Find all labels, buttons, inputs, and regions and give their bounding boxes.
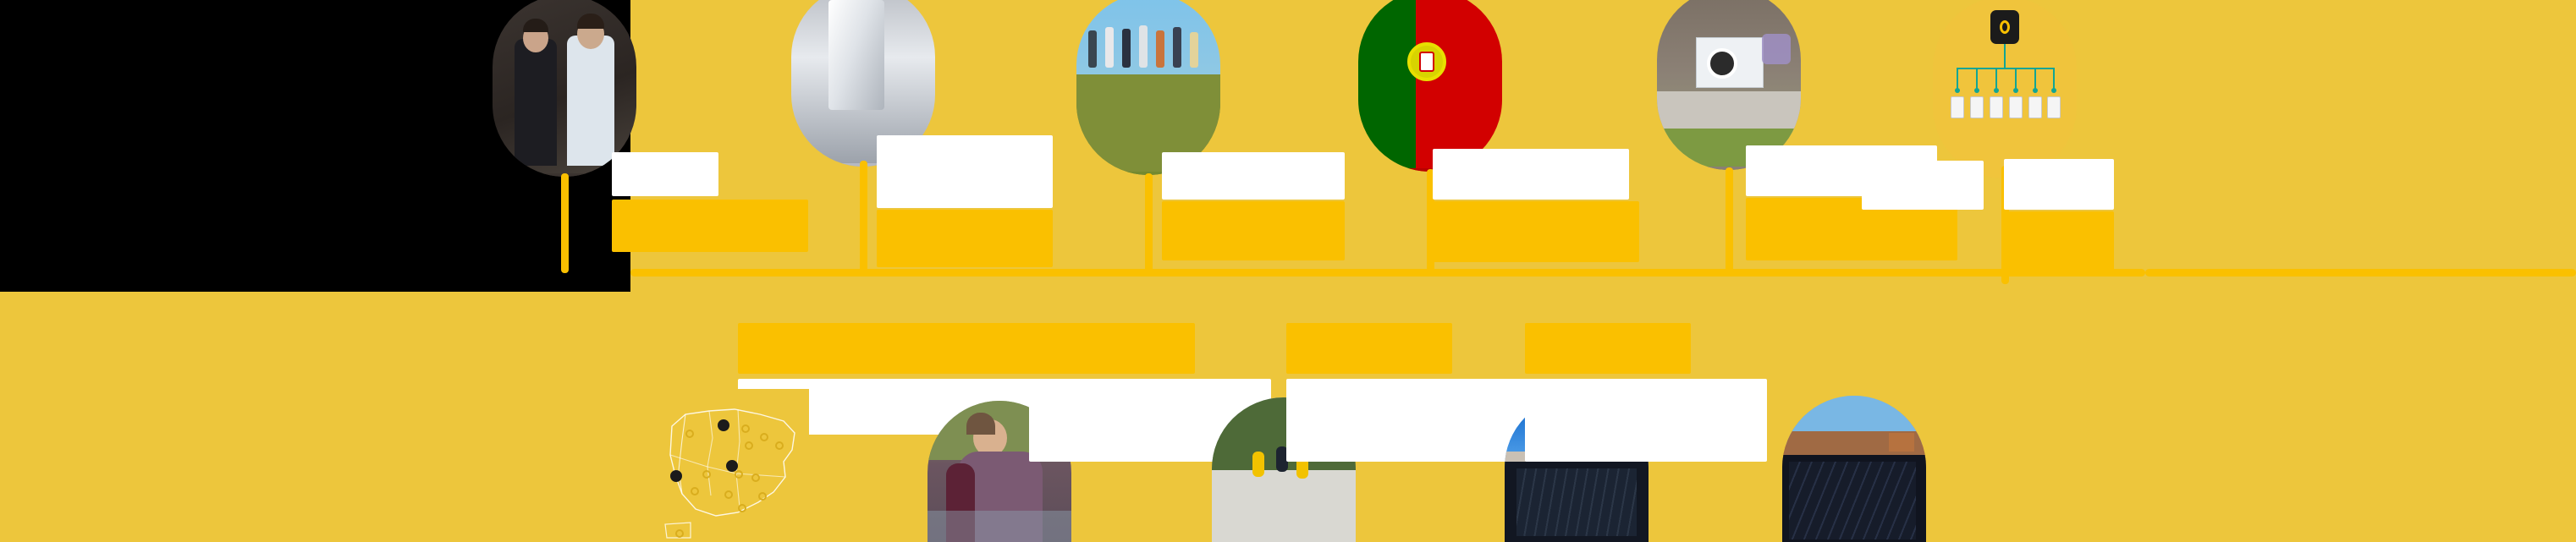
connector-stem-2024-top	[1726, 167, 1733, 274]
card-year-2025: 2025	[2004, 211, 2114, 276]
device-bus-line	[1957, 68, 2053, 69]
timeline-image-rooftop-solar	[1782, 396, 1926, 542]
timeline-image-founders-portrait	[493, 0, 636, 177]
card-title-2025	[1862, 161, 1984, 210]
card-year-2015: 2015	[612, 200, 808, 252]
timeline-carousel[interactable]: 2015 2018 2021	[0, 0, 2576, 542]
card-title-2023	[1286, 379, 1528, 462]
portugal-crest-icon	[1407, 42, 1446, 81]
card-year-2021-top: 2021	[1162, 201, 1345, 260]
timeline-image-coverage-map	[657, 389, 809, 542]
smart-home-diagram	[1933, 0, 2077, 178]
heat-pump-unit	[1696, 37, 1764, 88]
timeline-image-team-offsite	[1076, 0, 1220, 175]
connector-stem-2018	[860, 161, 867, 274]
portugal-flag-photo	[1358, 0, 1502, 172]
cyclist-1	[1252, 452, 1264, 477]
timeline-image-heat-pump	[1657, 0, 1801, 170]
timeline-card-2022[interactable]: 2022	[1433, 149, 1641, 262]
map-pin-primary-1	[718, 419, 729, 431]
connector-stem-2021-top	[1145, 173, 1153, 273]
smart-hub-icon	[1990, 10, 2019, 44]
card-title-2021-top	[1162, 152, 1345, 200]
card-year-2021-bottom: 2021	[1029, 323, 1195, 374]
card-year-2023: 2023	[1286, 323, 1452, 374]
rooftop-solar-photo	[1782, 396, 1926, 542]
card-title-2024-bottom	[1525, 379, 1767, 462]
connector-stem-2015	[561, 173, 569, 273]
card-title-2015	[612, 152, 718, 196]
card-title-2018	[877, 135, 1053, 208]
card-year-2016: 2016	[738, 323, 904, 374]
card-year-2024-bottom: 2024	[1525, 323, 1691, 374]
map-pin-primary-3	[670, 470, 682, 482]
card-year-2019: 2019	[883, 323, 1049, 374]
timeline-card-2023[interactable]: 2023	[1286, 323, 1494, 462]
card-title-2022	[1433, 149, 1629, 200]
timeline-card-2021-top[interactable]: 2021	[1162, 152, 1370, 260]
timeline-card-2015[interactable]: 2015	[612, 152, 820, 252]
hub-trunk-line	[2004, 44, 2006, 68]
timeline-rail-top	[630, 269, 2145, 276]
battery-unit	[828, 0, 884, 110]
timeline-image-portugal-flag	[1358, 0, 1502, 172]
card-year-2022: 2022	[1433, 201, 1639, 262]
timeline-card-2018[interactable]: 2018	[877, 135, 1085, 267]
timeline-card-2021-bottom[interactable]: 2021	[1029, 323, 1237, 462]
card-year-2018: 2018	[877, 210, 1053, 267]
heat-pump-photo	[1657, 0, 1801, 170]
card-subtitle-2025	[2004, 159, 2114, 210]
iberia-map	[657, 389, 809, 542]
timeline-image-smart-home-devices	[1933, 0, 2077, 178]
timeline-rail-top-extension	[2145, 269, 2576, 276]
team-photo	[1076, 0, 1220, 175]
founders-photo	[493, 0, 636, 177]
timeline-card-2024-bottom[interactable]: 2024	[1525, 323, 1733, 462]
timeline-card-2025-year[interactable]: 2025	[2004, 159, 2212, 276]
